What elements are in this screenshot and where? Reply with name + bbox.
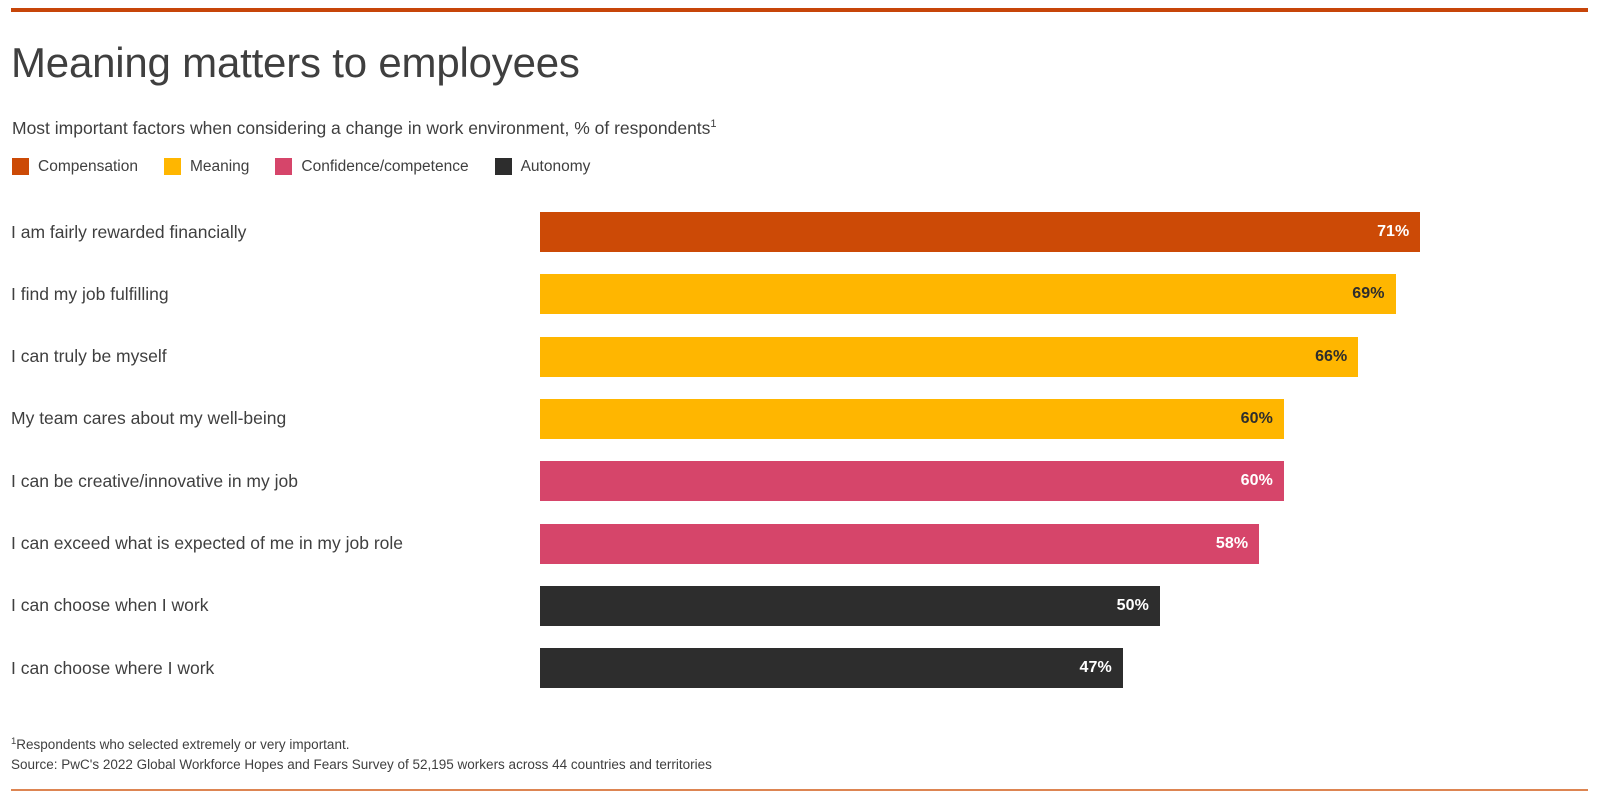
category-label: I can choose when I work (11, 586, 208, 626)
bar-compensation[interactable]: 71% (540, 212, 1420, 252)
bar-value-label: 58% (1216, 536, 1248, 552)
category-label: I can truly be myself (11, 337, 167, 377)
bar-track: 69% (540, 274, 1396, 314)
bar-value-label: 71% (1377, 224, 1409, 240)
bar-confidence[interactable]: 60% (540, 461, 1284, 501)
footnote-note-text: Respondents who selected extremely or ve… (16, 737, 349, 752)
chart-subtitle: Most important factors when considering … (12, 118, 717, 139)
bar-track: 60% (540, 399, 1284, 439)
chart-subtitle-text: Most important factors when considering … (12, 118, 710, 138)
bar-track: 66% (540, 337, 1358, 377)
category-label: I can choose where I work (11, 648, 214, 688)
bar-meaning[interactable]: 66% (540, 337, 1358, 377)
bar-track: 60% (540, 461, 1284, 501)
footnote-source: Source: PwC's 2022 Global Workforce Hope… (11, 755, 712, 775)
bar-autonomy[interactable]: 50% (540, 586, 1160, 626)
category-label: I am fairly rewarded financially (11, 212, 246, 252)
legend-swatch-icon-meaning (164, 158, 181, 175)
bar-meaning[interactable]: 69% (540, 274, 1396, 314)
bar-value-label: 60% (1241, 473, 1273, 489)
bar-confidence[interactable]: 58% (540, 524, 1259, 564)
bar-track: 58% (540, 524, 1259, 564)
legend-swatch-icon-confidence (275, 158, 292, 175)
bar-autonomy[interactable]: 47% (540, 648, 1123, 688)
bar-value-label: 47% (1079, 660, 1111, 676)
bar-track: 50% (540, 586, 1160, 626)
bar-meaning[interactable]: 60% (540, 399, 1284, 439)
chart-page: Meaning matters to employees Most import… (0, 0, 1600, 799)
chart-row: I find my job fulfilling69% (0, 274, 1600, 314)
chart-row: I can be creative/innovative in my job60… (0, 461, 1600, 501)
category-label: I find my job fulfilling (11, 274, 169, 314)
legend-swatch-icon-autonomy (495, 158, 512, 175)
chart-row: I can truly be myself66% (0, 337, 1600, 377)
bar-chart: I am fairly rewarded financially71%I fin… (0, 200, 1600, 700)
legend-swatch-icon-compensation (12, 158, 29, 175)
category-label: I can be creative/innovative in my job (11, 461, 298, 501)
legend-item-compensation[interactable]: Compensation (12, 158, 138, 175)
chart-row: My team cares about my well-being60% (0, 399, 1600, 439)
chart-row: I can exceed what is expected of me in m… (0, 524, 1600, 564)
legend-item-meaning[interactable]: Meaning (164, 158, 249, 175)
footnotes: 1Respondents who selected extremely or v… (11, 735, 712, 775)
subtitle-footnote-marker: 1 (710, 118, 716, 130)
bar-track: 47% (540, 648, 1123, 688)
page-title: Meaning matters to employees (11, 40, 580, 85)
category-label: My team cares about my well-being (11, 399, 286, 439)
chart-row: I am fairly rewarded financially71% (0, 212, 1600, 252)
legend-item-confidence[interactable]: Confidence/competence (275, 158, 468, 175)
chart-row: I can choose where I work47% (0, 648, 1600, 688)
bar-track: 71% (540, 212, 1420, 252)
chart-row: I can choose when I work50% (0, 586, 1600, 626)
legend-item-label: Confidence/competence (301, 159, 468, 175)
bar-value-label: 60% (1241, 411, 1273, 427)
chart-legend: CompensationMeaningConfidence/competence… (12, 158, 616, 175)
bar-value-label: 69% (1352, 286, 1384, 302)
category-label: I can exceed what is expected of me in m… (11, 524, 403, 564)
bottom-divider-rule (11, 789, 1588, 791)
bar-value-label: 66% (1315, 349, 1347, 365)
legend-item-label: Compensation (38, 159, 138, 175)
legend-item-autonomy[interactable]: Autonomy (495, 158, 591, 175)
top-divider-rule (11, 8, 1588, 12)
legend-item-label: Autonomy (521, 159, 591, 175)
bar-value-label: 50% (1117, 598, 1149, 614)
footnote-note: 1Respondents who selected extremely or v… (11, 735, 712, 755)
legend-item-label: Meaning (190, 159, 249, 175)
